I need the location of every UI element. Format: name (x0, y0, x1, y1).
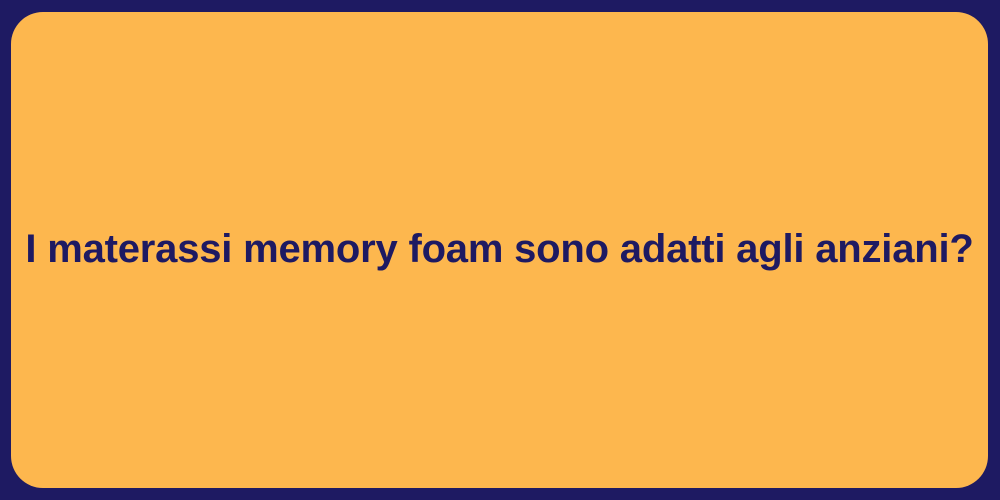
question-card-panel: I materassi memory foam sono adatti agli… (11, 12, 988, 488)
headline-container: I materassi memory foam sono adatti agli… (11, 224, 988, 274)
card-headline: I materassi memory foam sono adatti agli… (25, 224, 973, 274)
card-canvas: I materassi memory foam sono adatti agli… (0, 0, 1000, 500)
